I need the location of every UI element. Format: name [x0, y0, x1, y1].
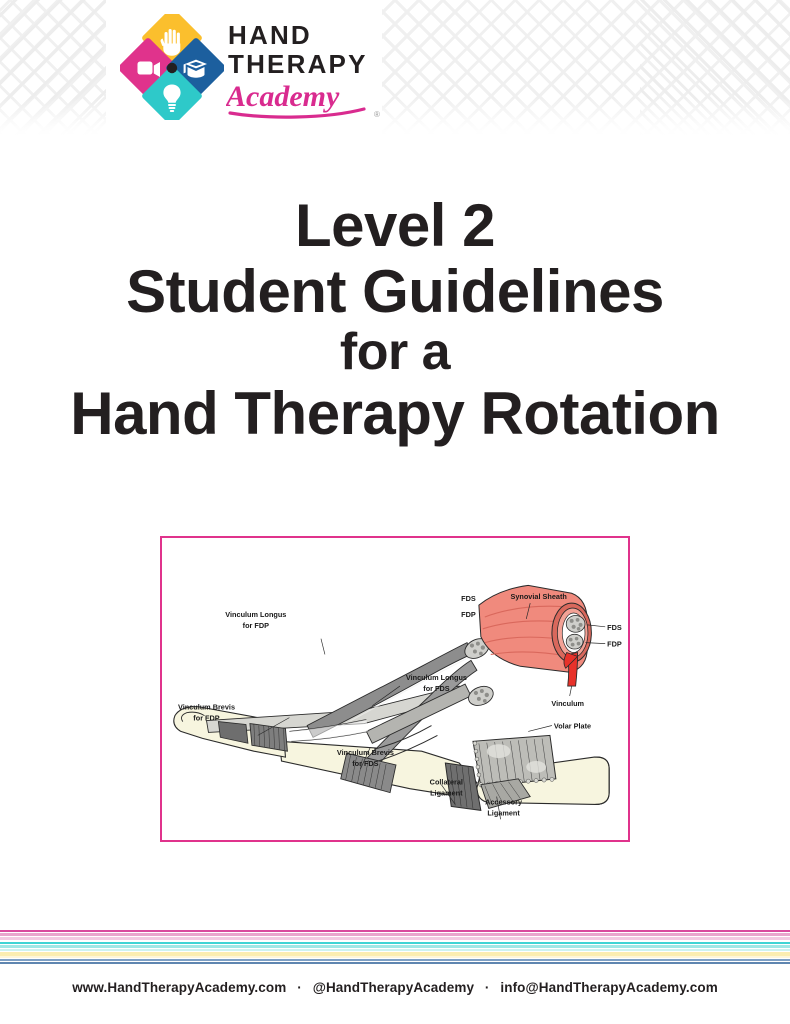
title-line-1: Level 2 [0, 196, 790, 256]
stripe-9 [0, 962, 790, 964]
stripe-5 [0, 949, 790, 951]
label-fdp-main: FDP [461, 610, 476, 619]
maze-fade-overlay [0, 0, 790, 136]
page-root: HAND THERAPY Academy ® Level 2 Student G… [0, 0, 790, 1024]
logo-wordmark: HAND THERAPY Academy ® [226, 22, 391, 120]
footer-email[interactable]: info@HandTherapyAcademy.com [500, 980, 717, 995]
label-collateral-ligament-line2: Ligament [430, 789, 463, 798]
footer-contact-bar: www.HandTherapyAcademy.com · @HandTherap… [0, 980, 790, 995]
fdp-bundle-inset [566, 634, 583, 649]
label-vinculum-brevis-fds-line2: for FDS [352, 759, 378, 768]
wordmark-academy-script: Academy [226, 78, 386, 120]
wordmark-hand: HAND [228, 22, 312, 48]
label-vinculum-brevis-fds-line1: Vinculum Brevis [337, 748, 394, 757]
stripe-2 [0, 937, 790, 940]
wordmark-therapy: THERAPY [228, 51, 368, 77]
footer-separator-1: · [290, 980, 309, 995]
label-fds-inset: FDS [607, 623, 622, 632]
footer-social-handle[interactable]: @HandTherapyAcademy [313, 980, 474, 995]
stripe-1 [0, 933, 790, 936]
anatomy-figure-frame: Vinculum Longus for FDP Vinculum Brevis … [160, 536, 630, 842]
stripe-0 [0, 930, 790, 932]
title-line-3: for a [0, 326, 790, 378]
registered-trademark-mark: ® [374, 110, 380, 119]
label-vinculum-brevis-fdp-line2: for FDP [193, 714, 219, 723]
label-vinculum-longus-fds-line1: Vinculum Longus [406, 673, 467, 682]
label-synovial-sheath: Synovial Sheath [510, 592, 566, 601]
label-collateral-ligament-line1: Collateral [430, 778, 463, 787]
logo-diamond-mark [120, 14, 224, 120]
leader-volar-plate [528, 726, 552, 732]
title-line-4: Hand Therapy Rotation [0, 384, 790, 444]
page-title: Level 2 Student Guidelines for a Hand Th… [0, 196, 790, 444]
header-pattern-band [0, 0, 790, 136]
academy-script-text: Academy [226, 80, 340, 113]
label-volar-plate: Volar Plate [554, 721, 591, 730]
label-vinculum-longus-fdp-line1: Vinculum Longus [225, 610, 286, 619]
logo-center-dot [167, 63, 177, 73]
label-vinculum-longus-fds-line2: for FDS [423, 684, 449, 693]
brand-logo[interactable]: HAND THERAPY Academy ® [120, 14, 388, 124]
leader-vinculum-longus-fdp [321, 639, 325, 655]
label-vinculum-longus-fdp-line2: for FDP [243, 621, 269, 630]
label-fdp-inset: FDP [607, 640, 622, 649]
footer-separator-2: · [478, 980, 497, 995]
footer-stripe-band [0, 930, 790, 964]
label-vinculum-inset: Vinculum [551, 699, 584, 708]
label-accessory-ligament-line2: Ligament [487, 808, 520, 817]
label-accessory-ligament-line1: Accessory [485, 797, 523, 806]
stripe-3 [0, 942, 790, 944]
stripe-4 [0, 945, 790, 948]
leader-vinculum-inset [570, 686, 572, 696]
label-vinculum-brevis-fdp-line1: Vinculum Brevis [178, 703, 235, 712]
stripe-8 [0, 959, 790, 961]
anatomy-diagram: Vinculum Longus for FDP Vinculum Brevis … [162, 538, 628, 840]
stripe-7 [0, 956, 790, 958]
footer-website[interactable]: www.HandTherapyAcademy.com [72, 980, 286, 995]
title-line-2: Student Guidelines [0, 262, 790, 322]
label-fds-main: FDS [461, 594, 476, 603]
